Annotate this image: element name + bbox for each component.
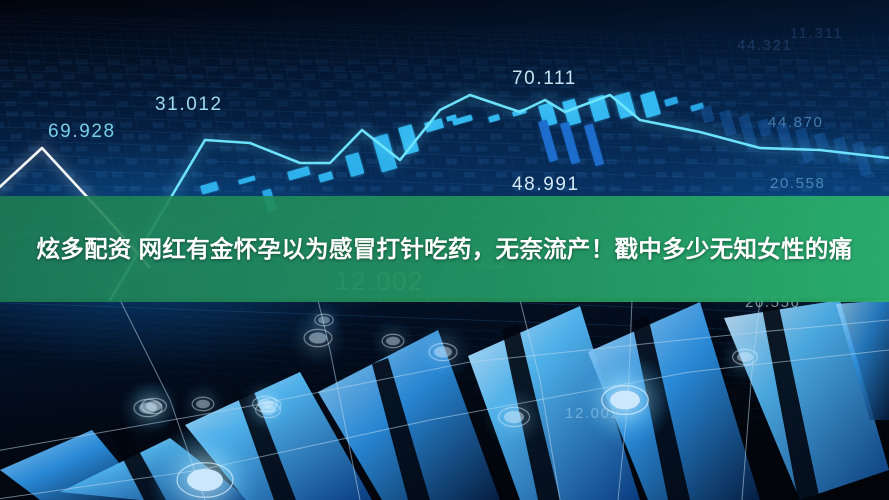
chart-image-stage: 69.92831.01270.11144.32111.31144.87048.9… [0, 0, 889, 500]
green-text-band [0, 0, 889, 500]
